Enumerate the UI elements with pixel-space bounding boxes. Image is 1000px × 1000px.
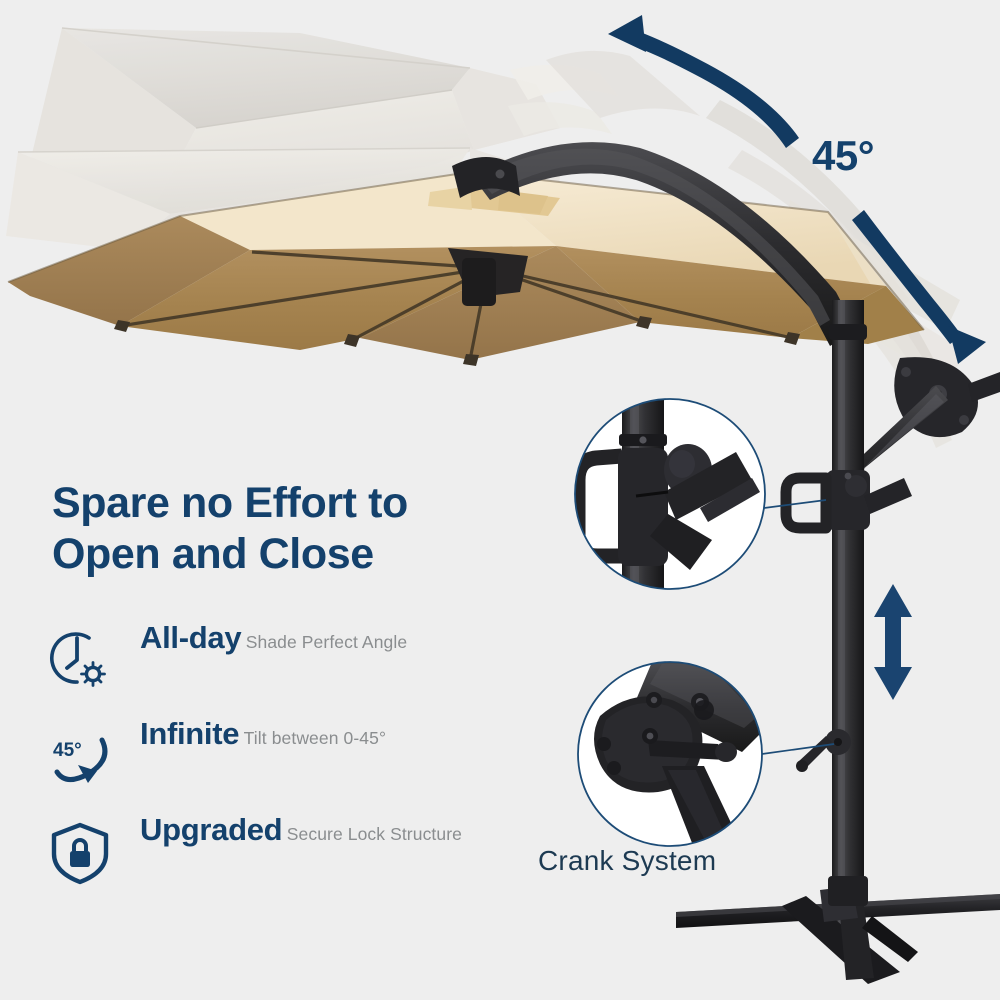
feature-title: Upgraded — [140, 812, 282, 847]
feature-item-infinite: 45° Infinite Tilt between 0-45° — [44, 718, 464, 814]
rotate-45-degree-icon: 45° — [44, 720, 116, 792]
headline-line-1: Spare no Effort to — [52, 479, 408, 527]
callout-leader-lines — [762, 500, 834, 754]
icon-angle-text: 45° — [53, 740, 82, 761]
height-adjust-arrow — [874, 584, 912, 700]
arrowhead-up — [874, 584, 912, 617]
detail-callout-crank-system — [578, 662, 770, 848]
feature-subtitle: Tilt between 0-45° — [244, 728, 386, 748]
feature-item-upgraded: Upgraded Secure Lock Structure — [44, 814, 464, 910]
leader-line-handle — [764, 500, 826, 508]
feature-title: Infinite — [140, 716, 239, 751]
page-title: Spare no Effort to Open and Close — [52, 478, 522, 579]
feature-title: All-day — [140, 620, 241, 655]
arrowhead-down — [874, 667, 912, 700]
feature-subtitle: Secure Lock Structure — [287, 824, 462, 844]
cross-base — [676, 876, 1000, 984]
tilt-lock-handle — [786, 470, 912, 530]
clock-sun-icon — [44, 624, 116, 696]
arrowhead-upper-left — [608, 15, 646, 52]
detail-callout-tilt-lock-handle — [575, 399, 765, 589]
crank-system-caption: Crank System — [538, 845, 716, 877]
infographic-canvas: Spare no Effort to Open and Close — [0, 0, 1000, 1000]
shield-lock-icon — [44, 816, 116, 888]
feature-subtitle: Shade Perfect Angle — [246, 632, 407, 652]
feature-list: All-day Shade Perfect Angle 45° Infinite… — [44, 622, 464, 910]
main-pole — [832, 300, 864, 936]
headline-line-2: Open and Close — [52, 529, 522, 580]
tilt-angle-label: 45° — [812, 132, 874, 180]
feature-item-all-day: All-day Shade Perfect Angle — [44, 622, 464, 718]
